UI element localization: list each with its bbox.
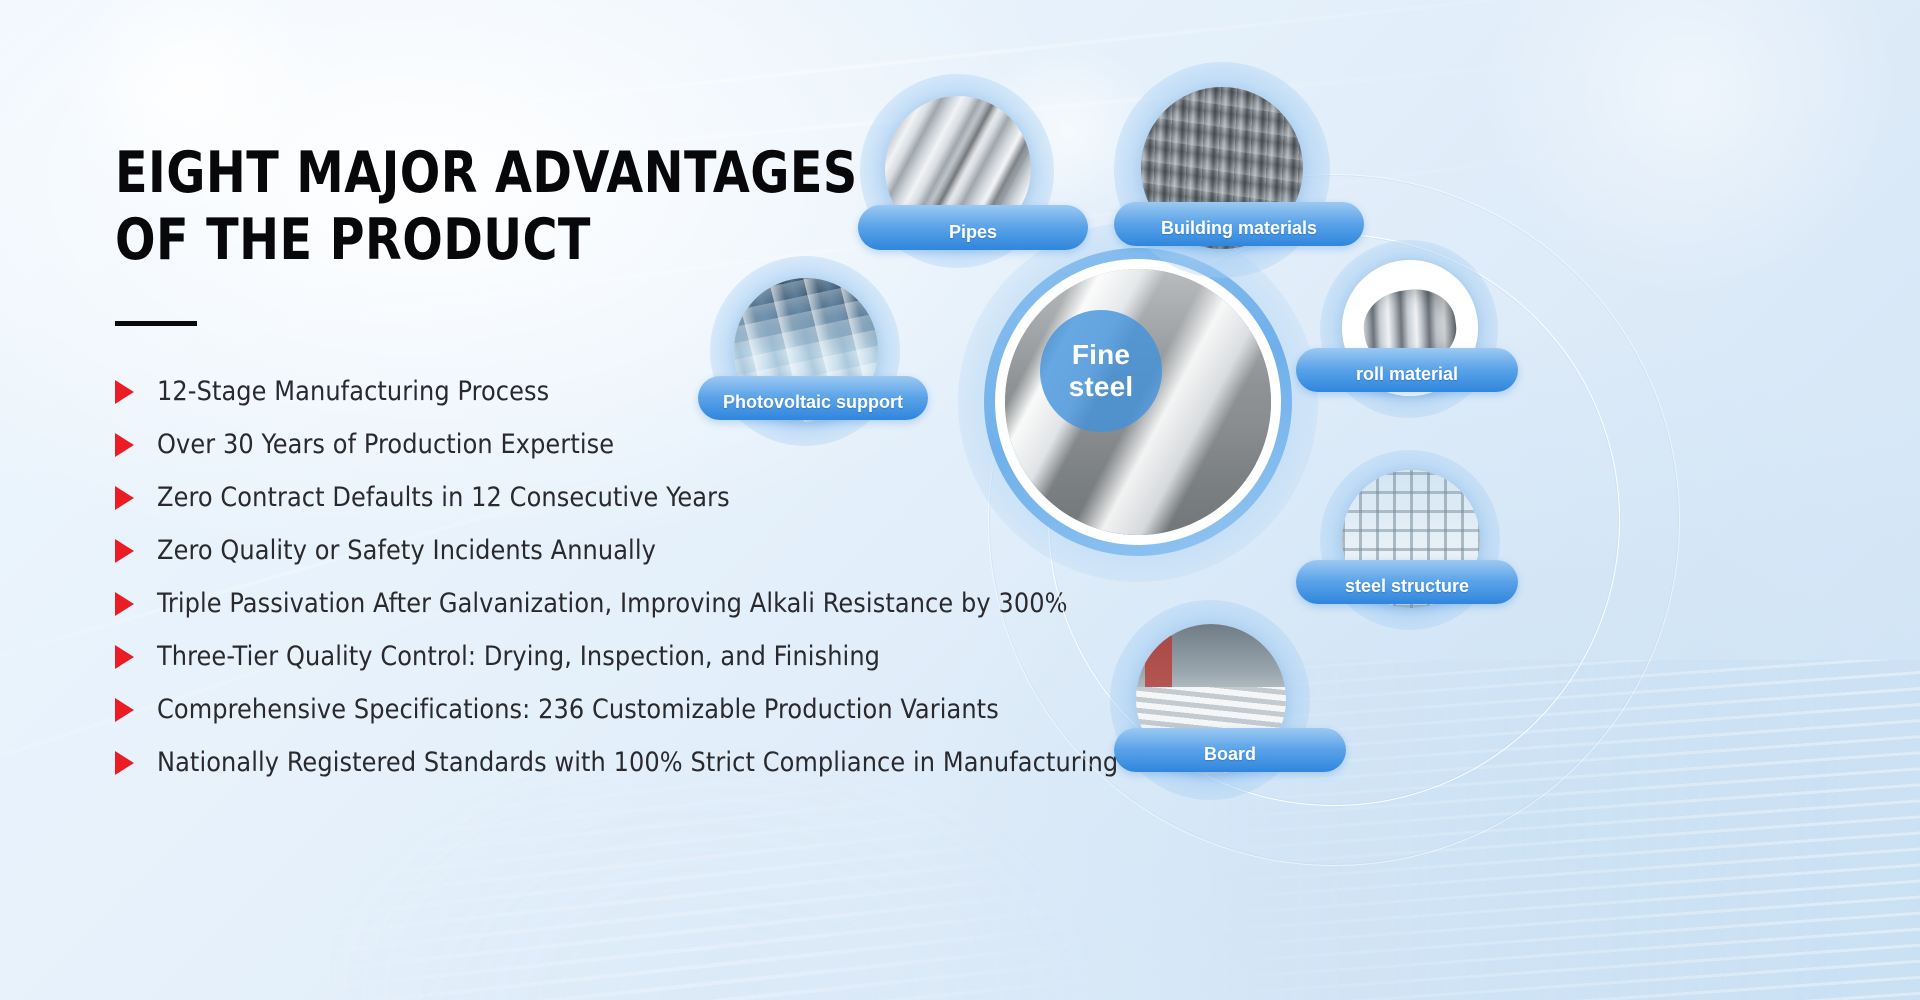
node-pipes[interactable]: Pipes — [860, 74, 1054, 268]
triangle-bullet-icon — [115, 645, 134, 669]
node-label-pill-roll-material: roll material — [1296, 348, 1518, 392]
node-roll-material[interactable]: roll material — [1320, 240, 1498, 418]
triangle-bullet-icon — [115, 592, 134, 616]
title-line-2: OF THE PRODUCT — [115, 207, 591, 273]
triangle-bullet-icon — [115, 751, 134, 775]
node-label-pill-board: Board — [1114, 728, 1346, 772]
node-photovoltaic-support[interactable]: Photovoltaic support — [710, 256, 900, 446]
hub-label-line-1: Fine — [1072, 339, 1130, 370]
node-label: steel structure — [1345, 576, 1469, 604]
node-label: Board — [1204, 744, 1256, 772]
triangle-bullet-icon — [115, 486, 134, 510]
node-label: Photovoltaic support — [723, 392, 903, 420]
title-divider — [115, 321, 197, 326]
hub-label-line-2: steel — [1069, 371, 1134, 402]
advantage-text: Zero Quality or Safety Incidents Annuall… — [157, 535, 656, 566]
node-label: Pipes — [949, 222, 997, 250]
triangle-bullet-icon — [115, 698, 134, 722]
node-label-pill-pipes: Pipes — [858, 205, 1088, 250]
product-orbit-diagram: Fine steel Pipes Building materials — [860, 0, 1920, 1000]
node-building-materials[interactable]: Building materials — [1114, 62, 1330, 278]
infographic-canvas: EIGHT MAJOR ADVANTAGES OF THE PRODUCT 12… — [0, 0, 1920, 1000]
node-label-pill-photovoltaic: Photovoltaic support — [698, 376, 928, 420]
title-line-1: EIGHT MAJOR ADVANTAGES — [115, 140, 858, 206]
advantage-text: Over 30 Years of Production Expertise — [157, 429, 614, 460]
triangle-bullet-icon — [115, 433, 134, 457]
node-label: roll material — [1356, 364, 1458, 392]
node-label-pill-steel-structure: steel structure — [1296, 560, 1518, 604]
advantage-text: Three-Tier Quality Control: Drying, Insp… — [157, 641, 880, 672]
advantage-text: Zero Contract Defaults in 12 Consecutive… — [157, 482, 730, 513]
advantage-text: 12-Stage Manufacturing Process — [157, 376, 549, 407]
node-board[interactable]: Board — [1110, 600, 1310, 800]
node-label: Building materials — [1161, 218, 1317, 246]
hub-label-badge: Fine steel — [1040, 310, 1162, 432]
triangle-bullet-icon — [115, 380, 134, 404]
triangle-bullet-icon — [115, 539, 134, 563]
node-steel-structure[interactable]: steel structure — [1320, 450, 1500, 630]
hub-label: Fine steel — [1069, 339, 1134, 403]
